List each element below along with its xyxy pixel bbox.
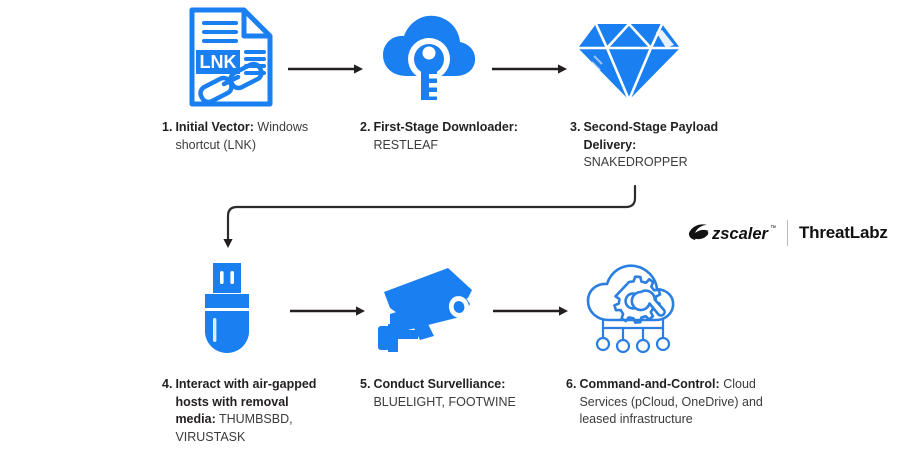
step-text-5: Conduct Survelliance: BLUELIGHT, FOOTWIN… xyxy=(373,376,540,411)
step-number-1: 1. xyxy=(162,119,175,137)
threatlabz-wordmark: ThreatLabz xyxy=(799,223,888,243)
lnk-badge-label: LNK xyxy=(200,52,237,72)
step-number-6: 6. xyxy=(566,376,579,394)
arrow-step2-to-step3 xyxy=(492,62,568,76)
arrow-step5-to-step6 xyxy=(493,304,569,318)
step-detail-3: SNAKEDROPPER xyxy=(583,155,687,169)
cctv-camera-icon xyxy=(376,266,478,352)
brand-logo: zscaler ™ ThreatLabz xyxy=(688,220,888,246)
step-caption-6: 6. Command-and-Control: Cloud Services (… xyxy=(566,376,771,429)
step-text-2: First-Stage Downloader: RESTLEAF xyxy=(373,119,530,154)
step-caption-2: 2. First-Stage Downloader: RESTLEAF xyxy=(360,119,530,154)
lnk-file-icon: LNK xyxy=(188,6,274,108)
usb-drive-icon xyxy=(199,263,255,355)
step-detail-2: RESTLEAF xyxy=(373,138,438,152)
cloud-key-icon xyxy=(381,14,477,104)
step-text-1: Initial Vector: Windows shortcut (LNK) xyxy=(175,119,327,154)
step-title-1: Initial Vector: xyxy=(175,120,254,134)
step-text-6: Command-and-Control: Cloud Services (pCl… xyxy=(579,376,771,429)
zscaler-logo: zscaler ™ xyxy=(688,222,776,244)
zscaler-wordmark: zscaler xyxy=(711,225,770,243)
step-number-4: 4. xyxy=(162,376,175,394)
logo-divider xyxy=(787,220,788,246)
arrow-step1-to-step2 xyxy=(288,62,364,76)
step-text-4: Interact with air-gapped hosts with remo… xyxy=(175,376,332,446)
step-caption-1: 1. Initial Vector: Windows shortcut (LNK… xyxy=(162,119,327,154)
step-title-2: First-Stage Downloader: xyxy=(373,120,517,134)
step-title-3: Second-Stage Payload Delivery: xyxy=(583,120,718,152)
step-caption-4: 4. Interact with air-gapped hosts with r… xyxy=(162,376,332,446)
cloud-gear-icon xyxy=(585,262,685,356)
step-title-5: Conduct Survelliance: xyxy=(373,377,505,391)
arrow-step4-to-step5 xyxy=(290,304,366,318)
step-number-3: 3. xyxy=(570,119,583,137)
step-caption-5: 5. Conduct Survelliance: BLUELIGHT, FOOT… xyxy=(360,376,540,411)
connector-step3-to-step4 xyxy=(218,186,648,252)
diagram-canvas: LNK xyxy=(0,0,900,470)
step-text-3: Second-Stage Payload Delivery: SNAKEDROP… xyxy=(583,119,735,172)
zscaler-swoosh-icon xyxy=(689,224,709,240)
step-number-2: 2. xyxy=(360,119,373,137)
step-number-5: 5. xyxy=(360,376,373,394)
step-title-6: Command-and-Control: xyxy=(579,377,719,391)
step-detail-5: BLUELIGHT, FOOTWINE xyxy=(373,395,515,409)
step-caption-3: 3. Second-Stage Payload Delivery: SNAKED… xyxy=(570,119,735,172)
diamond-gem-icon xyxy=(576,20,682,102)
svg-text:™: ™ xyxy=(770,225,776,232)
